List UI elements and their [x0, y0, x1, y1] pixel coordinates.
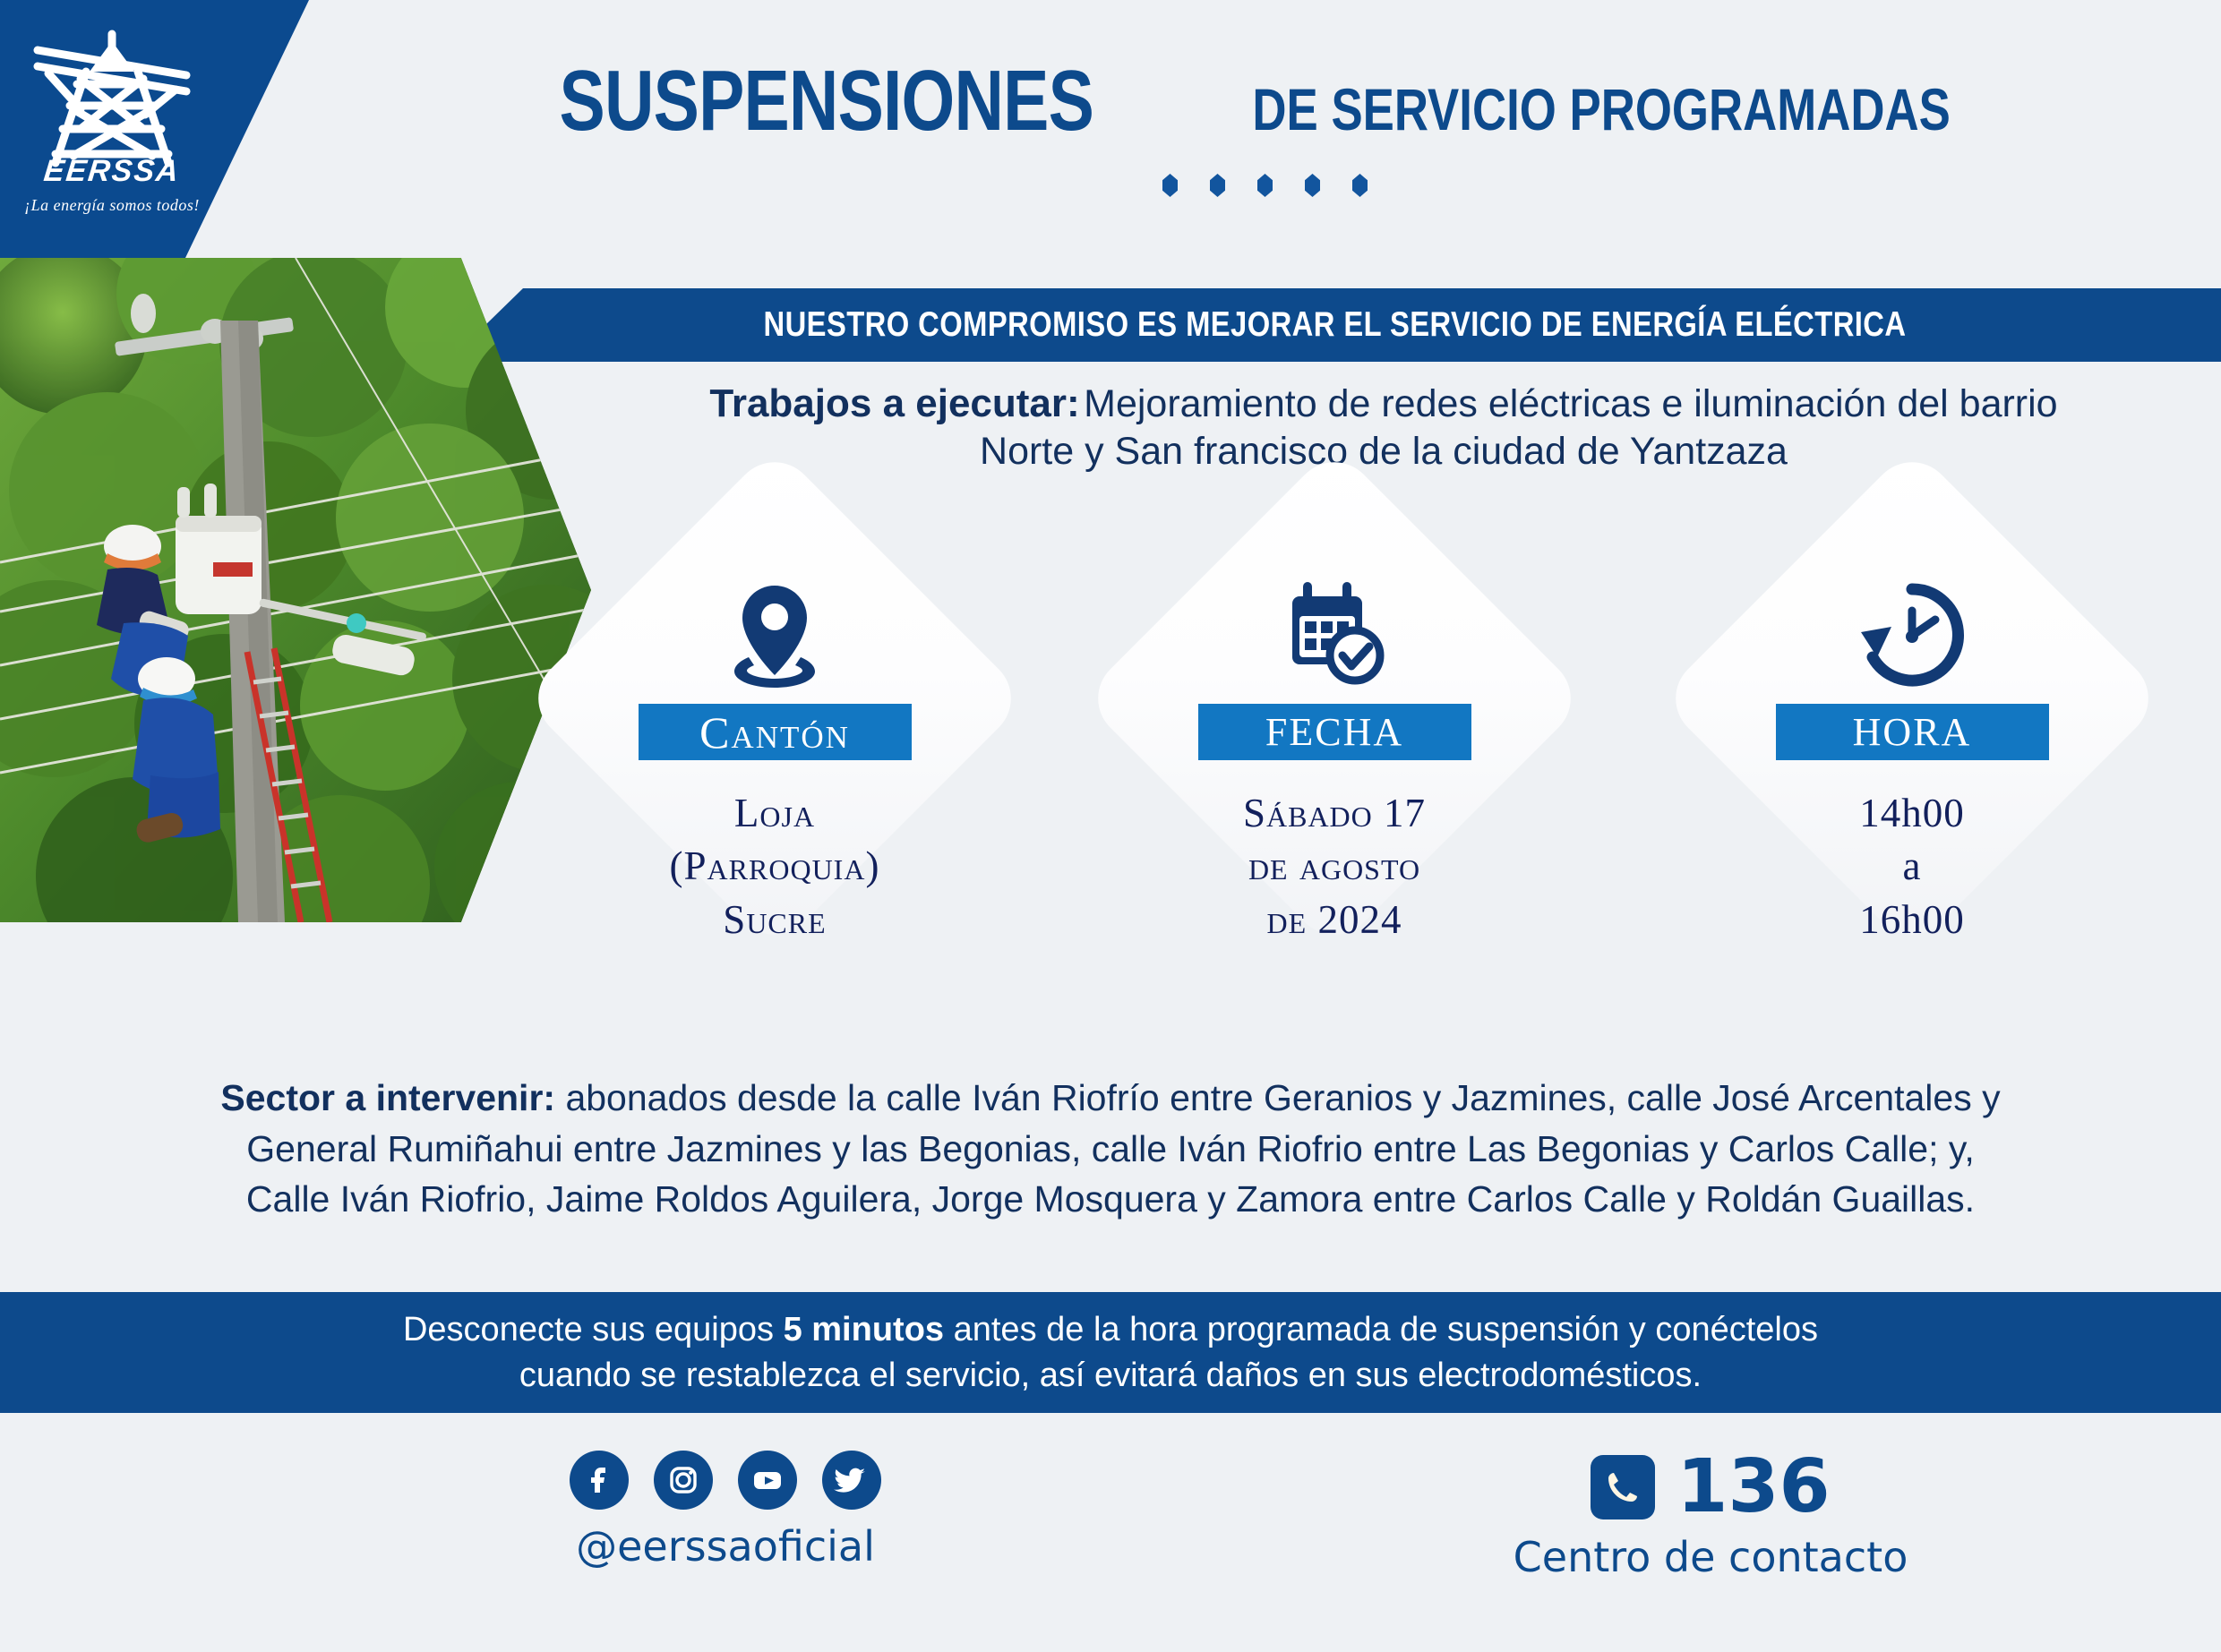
- info-card-fecha: FECHA Sábado 17 de agosto de 2024: [1097, 519, 1572, 994]
- title-light: DE SERVICIO PROGRAMADAS: [1253, 75, 1951, 143]
- page-title: SUSPENSIONES DE SERVICIO PROGRAMADAS: [493, 52, 2038, 150]
- sector-line-1: Sector a intervenir: abonados desde la c…: [81, 1073, 2140, 1124]
- works-label: Trabajos a ejecutar:: [709, 381, 1079, 425]
- hora-line-2: a: [1859, 840, 1965, 893]
- youtube-icon[interactable]: [738, 1451, 797, 1510]
- social-row: [537, 1451, 913, 1510]
- notice-line-2: cuando se restablezca el servicio, así e…: [519, 1353, 1702, 1399]
- diamond-dot-icon: [1352, 174, 1368, 197]
- notice-bar: Desconecte sus equipos 5 minutos antes d…: [0, 1292, 2221, 1413]
- card-value-fecha: Sábado 17 de agosto de 2024: [1243, 787, 1426, 946]
- works-line2: Norte y San francisco de la ciudad de Ya…: [573, 428, 2194, 475]
- commitment-text: NUESTRO COMPROMISO ES MEJORAR EL SERVICI…: [763, 305, 1906, 345]
- notice-line1-c: antes de la hora programada de suspensió…: [944, 1311, 1818, 1348]
- brand-name: EERSSA: [42, 154, 182, 189]
- brand-logo-wedge: EERSSA ¡La energía somos todos!: [0, 0, 309, 258]
- sector-line-3: Calle Iván Riofrio, Jaime Roldos Aguiler…: [81, 1174, 2140, 1225]
- fecha-line-2: de agosto: [1243, 840, 1426, 893]
- contact-row: 136: [1424, 1451, 1997, 1524]
- hora-line-3: 16h00: [1859, 894, 1965, 946]
- phone-number[interactable]: 136: [1676, 1451, 1830, 1524]
- hora-line-1: 14h00: [1859, 787, 1965, 840]
- card-value-canton: Loja (Parroquia) Sucre: [670, 787, 880, 946]
- sector-label: Sector a intervenir:: [220, 1077, 555, 1118]
- phone-icon: [1591, 1455, 1655, 1519]
- info-cards: Cantón Loja (Parroquia) Sucre: [537, 519, 2149, 1039]
- diamond-dot-icon: [1162, 174, 1178, 197]
- social-block: @eerssaoficial: [537, 1451, 913, 1571]
- works-block: Trabajos a ejecutar: Mejoramiento de red…: [573, 380, 2194, 475]
- info-card-hora: HORA 14h00 a 16h00: [1675, 519, 2149, 994]
- page-header: SUSPENSIONES DE SERVICIO PROGRAMADAS: [309, 0, 2221, 260]
- card-badge-fecha: FECHA: [1198, 704, 1471, 760]
- notice-highlight: 5 minutos: [784, 1311, 944, 1348]
- info-card-canton: Cantón Loja (Parroquia) Sucre: [537, 519, 1012, 994]
- phone-caption: Centro de contacto: [1424, 1533, 1997, 1581]
- brand-tagline: ¡La energía somos todos!: [24, 196, 200, 215]
- card-badge-hora: HORA: [1776, 704, 2049, 760]
- title-strong: SUSPENSIONES: [559, 52, 1093, 150]
- sector-block: Sector a intervenir: abonados desde la c…: [81, 1073, 2140, 1225]
- canton-line-3: Sucre: [670, 894, 880, 946]
- canton-line-2: (Parroquia): [670, 840, 880, 893]
- canton-line-1: Loja: [670, 787, 880, 840]
- diamond-dot-icon: [1305, 174, 1320, 197]
- diamond-dot-icon: [1257, 174, 1273, 197]
- twitter-icon[interactable]: [822, 1451, 881, 1510]
- sector-line-2: General Rumiñahui entre Jazmines y las B…: [81, 1124, 2140, 1175]
- map-pin-icon: [722, 580, 828, 689]
- decorative-dots: [1162, 174, 1368, 197]
- contact-block: 136 Centro de contacto: [1424, 1451, 1997, 1581]
- instagram-icon[interactable]: [654, 1451, 713, 1510]
- works-line1: Mejoramiento de redes eléctricas e ilumi…: [1084, 382, 2057, 425]
- notice-line-1: Desconecte sus equipos 5 minutos antes d…: [403, 1307, 1818, 1353]
- fecha-line-3: de 2024: [1243, 894, 1426, 946]
- card-badge-canton: Cantón: [639, 704, 912, 760]
- calendar-check-icon: [1280, 580, 1389, 689]
- notice-line1-a: Desconecte sus equipos: [403, 1311, 784, 1348]
- fecha-line-1: Sábado 17: [1243, 787, 1426, 840]
- sector-line1-rest: abonados desde la calle Iván Riofrío ent…: [555, 1077, 2001, 1118]
- commitment-banner: NUESTRO COMPROMISO ES MEJORAR EL SERVICI…: [448, 288, 2221, 362]
- clock-rotate-icon: [1857, 580, 1967, 689]
- social-handle[interactable]: @eerssaoficial: [537, 1522, 913, 1571]
- facebook-icon[interactable]: [570, 1451, 629, 1510]
- diamond-dot-icon: [1210, 174, 1225, 197]
- footer: @eerssaoficial 136 Centro de contacto: [0, 1433, 2221, 1652]
- card-value-hora: 14h00 a 16h00: [1859, 787, 1965, 946]
- poster-root: NUESTRO COMPROMISO ES MEJORAR EL SERVICI…: [0, 0, 2221, 1652]
